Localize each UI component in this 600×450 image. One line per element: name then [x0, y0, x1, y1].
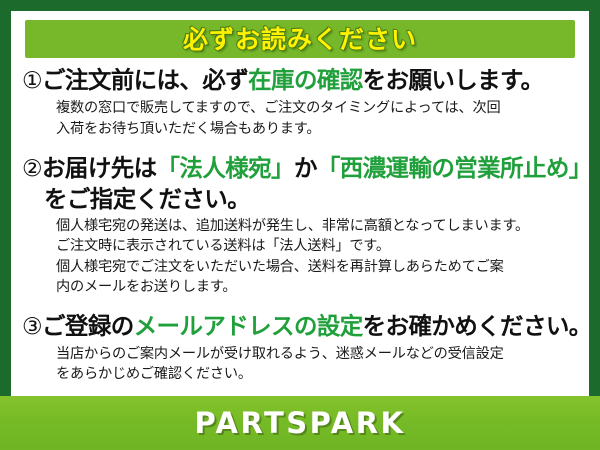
notice-description-line: 入荷をお待ち頂いただく場合もあります。 — [56, 119, 579, 139]
notice-heading-text: ご注文前には、必ず — [42, 66, 248, 94]
notice-heading-highlight: メールアドレスの設定 — [134, 312, 363, 340]
notice-description: 複数の窓口で販売してますので、ご注文のタイミングによっては、次回入荷をお待ち頂い… — [22, 98, 579, 138]
notice-description: 当店からのご案内メールが受け取れるよう、迷惑メールなどの受信設定をあらかじめご確… — [22, 344, 579, 384]
notice-heading-continuation: をご指定ください。 — [22, 184, 579, 214]
notice-description-line: 複数の窓口で販売してますので、ご注文のタイミングによっては、次回 — [56, 98, 579, 118]
notice-number: ③ — [22, 314, 42, 340]
notice-heading: ①ご注文前には、必ず在庫の確認をお願いします。 — [22, 65, 579, 96]
notice-description-line: 内のメールをお送りします。 — [56, 277, 579, 297]
notice-heading-text: か — [294, 154, 317, 182]
notice-heading: ③ご登録のメールアドレスの設定をお確かめください。 — [22, 311, 579, 342]
footer-brand-bar: PARTSPARK — [0, 396, 600, 450]
notice-description-line: 個人様宅宛の発送は、追加送料が発生し、非常に高額となってしまいます。 — [56, 216, 579, 236]
notice-number: ① — [22, 68, 42, 94]
notice-description-line: をあらかじめご確認ください。 — [56, 364, 579, 384]
notice-heading-text: ご登録の — [42, 312, 134, 340]
notice-heading-text: をお確かめください。 — [363, 312, 589, 340]
page-title: 必ずお読みください — [183, 27, 417, 52]
notice-list: ①ご注文前には、必ず在庫の確認をお願いします。複数の窓口で販売してますので、ご注… — [11, 63, 589, 387]
notice-heading-highlight: 「法人様宛」 — [157, 154, 294, 182]
notice-heading-highlight: 「西濃運輸の営業所止め」 — [317, 154, 589, 182]
notice-number: ② — [22, 156, 42, 182]
notice-item: ②お届け先は「法人様宛」か「西濃運輸の営業所止め」をご指定ください。個人様宅宛の… — [22, 153, 579, 297]
notice-heading-highlight: 在庫の確認 — [248, 66, 363, 94]
notice-description-line: 当店からのご案内メールが受け取れるよう、迷惑メールなどの受信設定 — [56, 344, 579, 364]
header-title-bar: 必ずお読みください — [25, 20, 575, 58]
notice-description-line: 個人様宅宛でご注文をいただいた場合、送料を再計算しあらためてご案 — [56, 257, 579, 277]
notice-heading-text: お届け先は — [42, 154, 157, 182]
notice-heading: ②お届け先は「法人様宛」か「西濃運輸の営業所止め」をご指定ください。 — [22, 153, 579, 215]
notice-description-line: ご注文時に表示されている送料は「法人送料」です。 — [56, 236, 579, 256]
notice-item: ①ご注文前には、必ず在庫の確認をお願いします。複数の窓口で販売してますので、ご注… — [22, 65, 579, 139]
notice-description: 個人様宅宛の発送は、追加送料が発生し、非常に高額となってしまいます。ご注文時に表… — [22, 216, 579, 297]
banner-inner-panel: 必ずお読みください ①ご注文前には、必ず在庫の確認をお願いします。複数の窓口で販… — [11, 11, 589, 409]
notice-heading-text: をお願いします。 — [363, 66, 544, 94]
brand-name: PARTSPARK — [194, 409, 405, 438]
notice-item: ③ご登録のメールアドレスの設定をお確かめください。当店からのご案内メールが受け取… — [22, 311, 579, 385]
notice-banner: 必ずお読みください ①ご注文前には、必ず在庫の確認をお願いします。複数の窓口で販… — [0, 0, 600, 450]
